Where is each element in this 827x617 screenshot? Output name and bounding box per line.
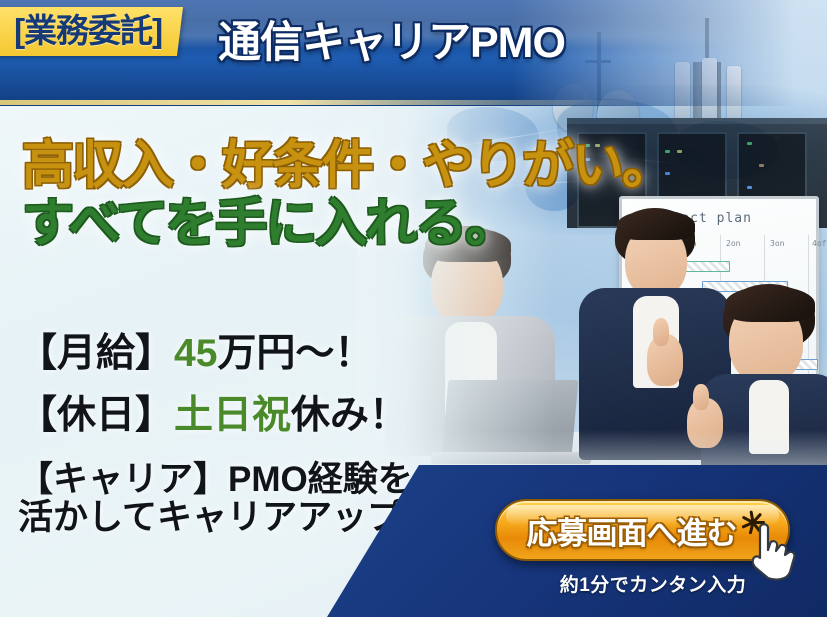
benefit-holiday-days: 土日祝 — [174, 394, 291, 437]
benefit-career-line-1: 【キャリア】PMO経験を — [18, 461, 413, 500]
benefit-holiday-rest: 休み！ — [291, 394, 408, 437]
apply-note: 約1分でカンタン入力 — [533, 570, 773, 597]
benefit-career-line-2: 活かしてキャリアアップ — [18, 499, 413, 538]
headline-line-2: すべてを手に入れる。 — [22, 195, 672, 253]
benefit-holiday-label: 【休日】 — [18, 394, 174, 437]
benefits-list: 【月給】45万円〜！ 【休日】土日祝休み！ 【キャリア】PMO経験を 活かしてキ… — [18, 332, 413, 538]
headline: 高収入・好条件・やりがい。 すべてを手に入れる。 — [22, 137, 672, 253]
header-gold-underline — [0, 100, 640, 105]
pointing-hand-cursor-icon — [746, 520, 798, 582]
benefit-salary-unit: 万円〜！ — [217, 332, 373, 375]
employment-type-label: [業務委託] — [14, 14, 162, 47]
benefit-holiday: 【休日】土日祝休み！ — [18, 394, 413, 438]
job-title: 通信キャリアPMO — [218, 22, 565, 65]
benefit-salary-amount: 45 — [174, 332, 217, 375]
benefit-salary: 【月給】45万円〜！ — [18, 332, 413, 376]
employment-type-tag: [業務委託] — [0, 7, 183, 56]
headline-line-1: 高収入・好条件・やりがい。 — [22, 137, 672, 195]
job-ad-banner: Project plan 1un 2on 3on 4off plan — [0, 0, 827, 617]
benefit-salary-label: 【月給】 — [18, 332, 174, 375]
